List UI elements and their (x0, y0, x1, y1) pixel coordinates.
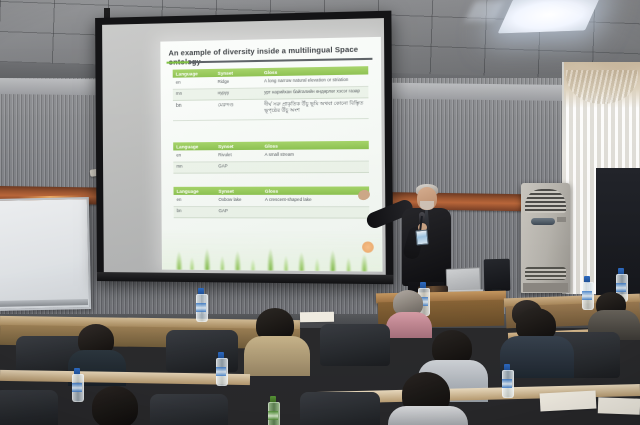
column-header-gloss: Gloss (262, 188, 369, 193)
column-header-gloss: Gloss (261, 68, 368, 75)
chair[interactable] (0, 390, 58, 425)
monitor (484, 259, 511, 291)
cell-language: bn (174, 208, 216, 213)
cell-synset: GAP (215, 163, 261, 168)
bottle-label (216, 367, 226, 376)
cell-gloss: দীর্ঘ সরু প্রাকৃতিক উঁচু ভূমি অথবা কোনো … (261, 100, 368, 115)
cell-synset: нуруу (215, 90, 261, 96)
chair[interactable] (300, 392, 380, 425)
ac-brand-logo-icon (557, 217, 566, 222)
floor-air-conditioner[interactable] (521, 183, 570, 293)
bottle-label (616, 283, 626, 292)
paper-sheet[interactable] (540, 391, 597, 412)
column-header-language: Language (174, 188, 216, 193)
table-header-row: Language Synset Gloss (173, 186, 369, 194)
cell-gloss (262, 163, 369, 164)
chair-backrest (0, 390, 58, 425)
cell-gloss: A long narrow natural elevation or stria… (261, 76, 368, 83)
cell-synset: মেরুদণ্ড (215, 101, 261, 108)
audience-head (92, 386, 138, 425)
presenter-beard (420, 201, 434, 210)
paper-sheet[interactable] (300, 312, 334, 323)
column-header-gloss: Gloss (261, 142, 368, 148)
table-row: en Oxbow lake A crescent-shaped lake (174, 195, 370, 207)
column-header-synset: Synset (215, 188, 261, 193)
chair[interactable] (320, 324, 390, 366)
column-header-synset: Synset (214, 70, 260, 76)
audience-body (244, 336, 310, 376)
projection-screen-surface: An example of diversity inside a multili… (102, 18, 386, 275)
paper-sheet[interactable] (598, 397, 640, 414)
whiteboard[interactable] (0, 197, 91, 311)
cell-synset: Rivulet (215, 151, 261, 156)
column-header-language: Language (173, 144, 215, 149)
column-header-synset: Synset (215, 143, 261, 148)
table-row: mn GAP (173, 161, 369, 174)
bottle-label (72, 383, 82, 392)
audience-body (386, 312, 432, 338)
cell-language: en (173, 152, 215, 157)
slide-table-oxbow-lake: Language Synset Gloss en Oxbow lake A cr… (173, 186, 369, 218)
bottle-label (502, 379, 512, 388)
presentation-slide: An example of diversity inside a multili… (160, 37, 382, 272)
table-row: bn মেরুদণ্ড দীর্ঘ সরু প্রাকৃতিক উঁচু ভূম… (173, 98, 369, 120)
projection-screen: An example of diversity inside a multili… (95, 11, 393, 285)
chair-backrest (150, 394, 228, 425)
cell-gloss: A small stream (261, 151, 368, 157)
bottle-label (268, 411, 278, 420)
cell-gloss: A crescent-shaped lake (262, 196, 369, 201)
cell-gloss: урт нарийхан байгалийн өндөрлөг хэсэг га… (261, 88, 368, 95)
cell-language: mn (173, 163, 215, 168)
fluorescent-light-panel-icon (498, 0, 601, 33)
chair[interactable] (150, 394, 228, 425)
column-header-language: Language (173, 70, 215, 76)
cell-language: mn (173, 90, 215, 96)
slide-title: An example of diversity inside a multili… (168, 44, 374, 66)
cell-language: bn (173, 102, 215, 109)
slide-table-ridge: Language Synset Gloss en Ridge A long na… (173, 66, 369, 120)
cell-language: en (174, 196, 216, 201)
audience-body (388, 406, 468, 425)
ac-lower-vent-icon (525, 267, 566, 280)
table-row: bn GAP (174, 207, 370, 219)
bottle-label (582, 291, 592, 300)
chair-backrest (300, 392, 380, 425)
ac-display-panel[interactable] (531, 218, 555, 225)
slide-table-rivulet: Language Synset Gloss en Rivulet A small… (173, 141, 369, 174)
table-row: en Rivulet A small stream (173, 149, 369, 162)
cell-language: en (173, 79, 215, 85)
cell-synset: GAP (215, 208, 261, 213)
presenter-badge (415, 230, 428, 246)
ac-upper-vent-icon (525, 189, 566, 213)
ac-base (523, 283, 568, 292)
audience-person (92, 386, 138, 425)
slide-grass-decoration-icon (162, 229, 383, 271)
mid-row-desk (0, 370, 250, 385)
lecture-room-photo: An example of diversity inside a multili… (0, 0, 640, 425)
cell-synset: Oxbow lake (215, 196, 261, 201)
cell-synset: Ridge (215, 78, 261, 84)
bottle-label (196, 303, 206, 312)
chair-backrest (320, 324, 390, 366)
